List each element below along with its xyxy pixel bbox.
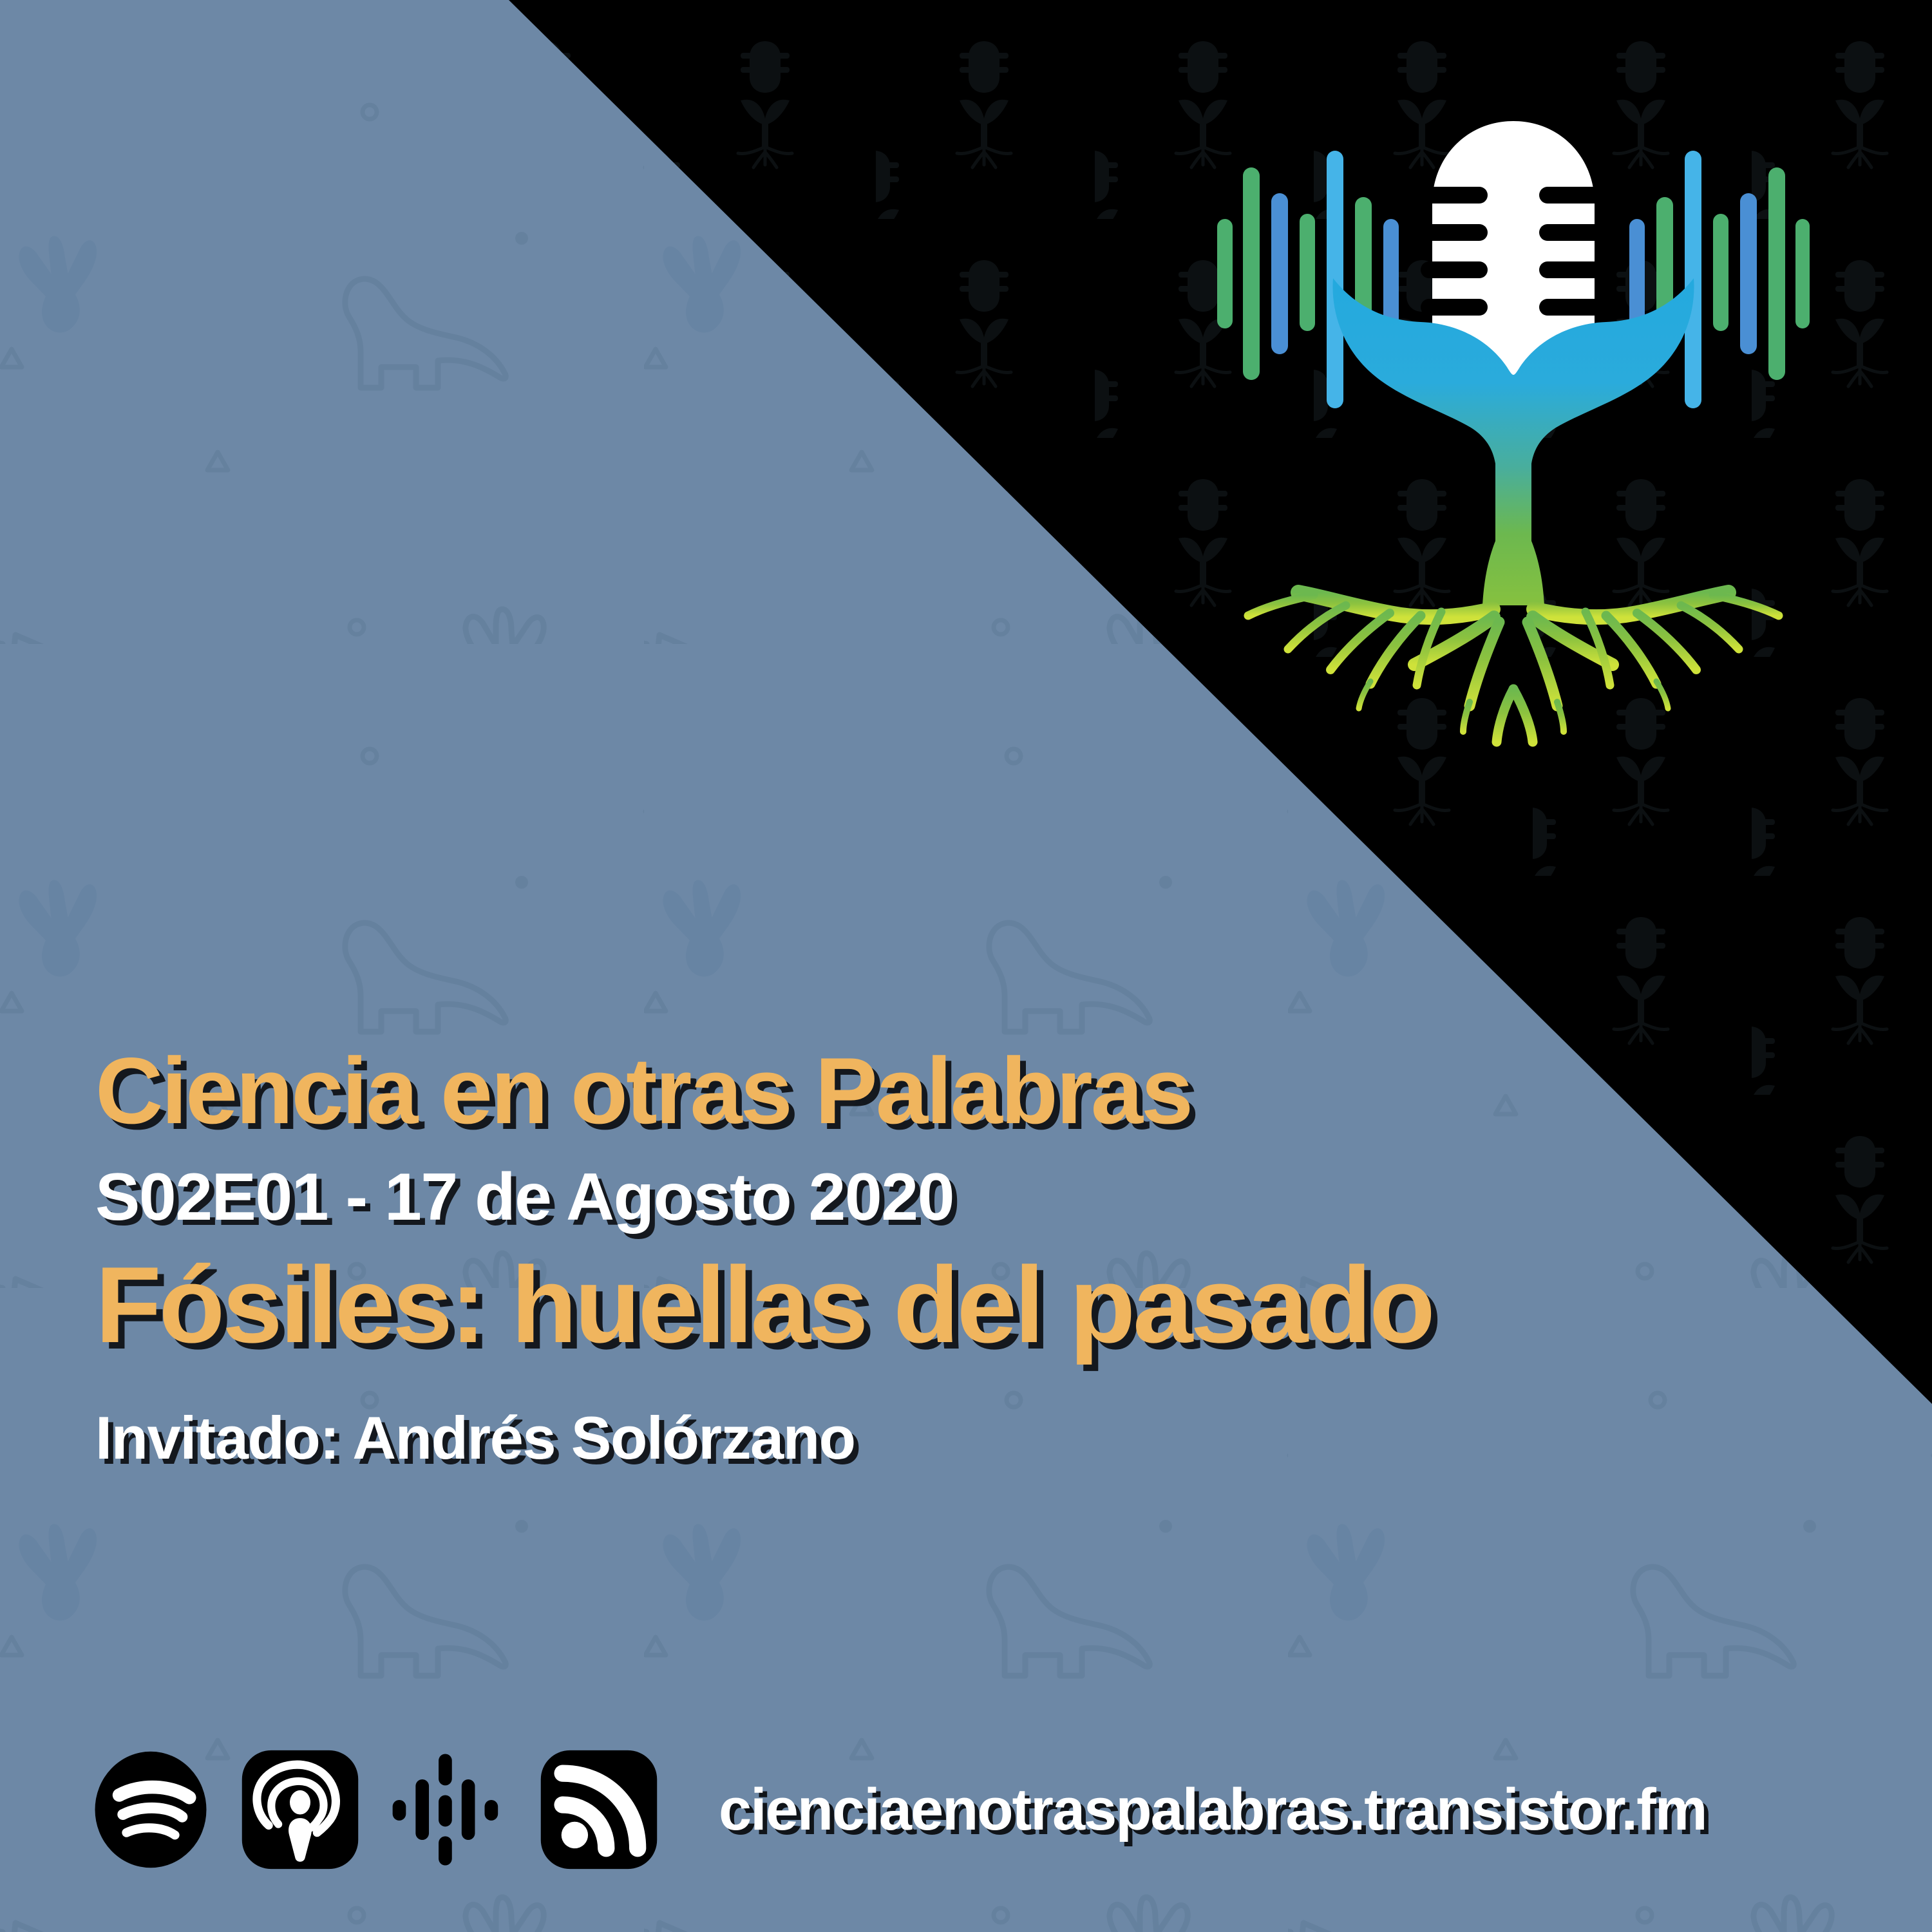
guest-line: Invitado: Andrés Solórzano <box>95 1406 1834 1470</box>
podcast-episode-cover: Ciencia en otras Palabras S02E01 - 17 de… <box>0 0 1932 1932</box>
show-title: Ciencia en otras Palabras <box>95 1043 1834 1139</box>
root-system <box>1248 592 1779 742</box>
episode-title: Fósiles: huellas del pasado <box>95 1250 1834 1360</box>
site-url[interactable]: cienciaenotraspalabras.transistor.fm <box>719 1780 1707 1839</box>
spotify-icon[interactable] <box>90 1749 211 1870</box>
footer-bar: cienciaenotraspalabras.transistor.fm <box>90 1732 1868 1887</box>
rss-feed-icon[interactable] <box>538 1749 659 1870</box>
google-podcasts-icon[interactable] <box>389 1749 510 1870</box>
episode-meta: S02E01 - 17 de Agosto 2020 <box>95 1162 1834 1232</box>
episode-text-block: Ciencia en otras Palabras S02E01 - 17 de… <box>95 1043 1834 1470</box>
apple-podcasts-icon[interactable] <box>240 1749 361 1870</box>
podcast-whale-tree-logo <box>1217 90 1810 753</box>
